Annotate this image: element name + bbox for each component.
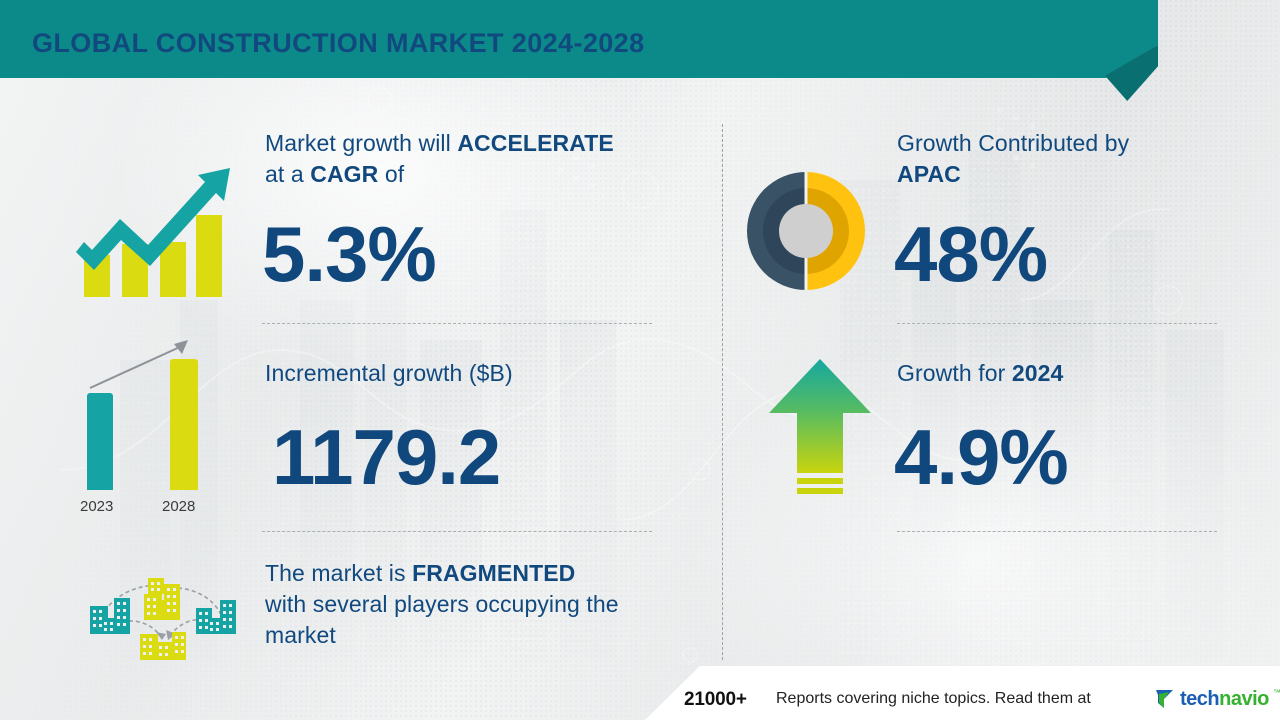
growth2024-value: 4.9%	[894, 418, 1068, 496]
bar-2028	[170, 359, 198, 490]
bar-2023	[87, 393, 113, 490]
divider-right-2	[897, 531, 1217, 532]
up-arrow-icon	[765, 355, 875, 505]
cagr-caption-line1: Market growth will ACCELERATE	[265, 130, 614, 156]
apac-caption: Growth Contributed by APAC	[897, 128, 1227, 190]
donut-chart-icon	[745, 170, 867, 292]
connected-buildings-icon	[78, 556, 238, 664]
bar-label-2028: 2028	[162, 498, 195, 515]
incremental-growth-value: 1179.2	[272, 418, 500, 496]
technavio-logo-tech: tech	[1180, 689, 1219, 709]
growth2024-caption-year: 2024	[1012, 360, 1064, 386]
technavio-logo-navio: navio	[1219, 689, 1269, 709]
apac-caption-region: APAC	[897, 161, 961, 187]
fragmented-caption: The market is FRAGMENTED with several pl…	[265, 558, 680, 651]
divider-left-1	[262, 323, 652, 324]
divider-right-1	[897, 323, 1217, 324]
fragmented-line3: market	[265, 622, 336, 648]
growth2024-caption: Growth for 2024	[897, 358, 1063, 389]
growth-arrow-chart-icon	[72, 150, 242, 302]
cagr-caption-line2: at a CAGR of	[265, 161, 404, 187]
bar-label-2023: 2023	[80, 498, 113, 515]
apac-caption-line1: Growth Contributed by	[897, 130, 1129, 156]
cagr-value: 5.3%	[262, 215, 436, 293]
cagr-caption: Market growth will ACCELERATE at a CAGR …	[265, 128, 665, 190]
incremental-growth-label: Incremental growth ($B)	[265, 358, 513, 389]
vertical-divider	[722, 124, 723, 660]
footer-report-count: 21000+	[684, 689, 747, 711]
technavio-logo-trademark: ™	[1273, 689, 1280, 697]
technavio-logo[interactable]: tech navio ™	[1155, 686, 1280, 712]
fragmented-line1: The market is FRAGMENTED	[265, 560, 575, 586]
two-bar-comparison-icon: 2023 2028	[70, 330, 240, 520]
fragmented-line2: with several players occupying the	[265, 591, 619, 617]
footer-tagline: Reports covering niche topics. Read them…	[776, 690, 1091, 708]
technavio-arrow-mark-icon	[1155, 688, 1177, 710]
page-title: GLOBAL CONSTRUCTION MARKET 2024-2028	[32, 28, 645, 59]
growth2024-caption-text: Growth for	[897, 360, 1012, 386]
apac-value: 48%	[894, 215, 1047, 293]
divider-left-2	[262, 531, 652, 532]
infographic-canvas: GLOBAL CONSTRUCTION MARKET 2024-2028 Mar…	[0, 0, 1280, 720]
